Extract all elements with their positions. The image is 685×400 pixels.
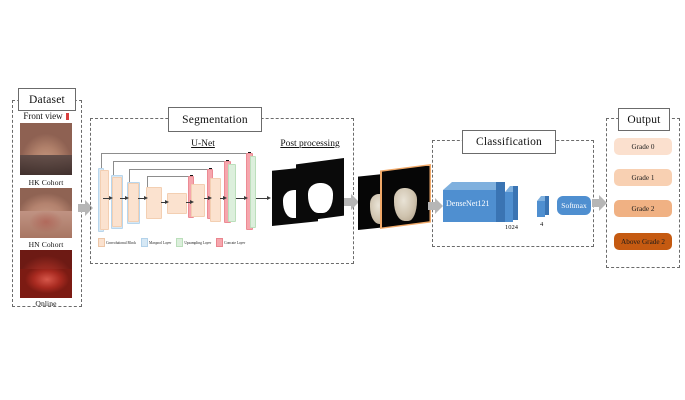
softmax-block: Softmax	[557, 196, 591, 215]
legend-item-upsampling: Upsampling Layer	[176, 238, 211, 247]
legend-label-concate: Concate Layer	[224, 241, 245, 245]
unet-conv-bottleneck	[167, 193, 187, 214]
binary-mask-front	[296, 158, 344, 222]
class-count-label: 4	[540, 221, 543, 228]
feature-vector-front-face	[505, 192, 513, 222]
legend-swatch-upsampling	[176, 238, 183, 247]
legend-label-maxpool: Maxpool Layer	[149, 241, 171, 245]
output-grade-1: Grade 1	[614, 169, 672, 186]
arrow-segmentation-out	[344, 194, 358, 210]
segmented-image-front	[380, 164, 431, 229]
unet-flow-arrow-3	[138, 198, 145, 199]
front-view-label: Front view	[12, 111, 80, 121]
front-view-text: Front view	[23, 111, 62, 121]
unet-conv-2	[128, 183, 139, 222]
legend-swatch-conv	[98, 238, 105, 247]
front-view-marker-icon	[66, 113, 69, 120]
unet-flow-arrow-9	[256, 198, 268, 199]
segmented-silhouette-front	[394, 188, 417, 221]
classification-panel-title: Classification	[462, 130, 556, 154]
hn-cohort-photo	[20, 188, 72, 238]
feature-vector-side-face	[513, 186, 518, 220]
legend-label-upsampling: Upsampling Layer	[184, 241, 211, 245]
unet-conv-3	[146, 187, 162, 219]
online-caption: Online	[12, 299, 80, 308]
hk-cohort-caption: HK Cohort	[12, 178, 80, 187]
arrow-to-densenet	[428, 198, 442, 214]
legend-item-maxpool: Maxpool Layer	[141, 238, 171, 247]
unet-flow-arrow-5	[186, 202, 191, 203]
unet-conv-0	[100, 170, 109, 230]
mask-silhouette-front	[308, 183, 333, 213]
figure-canvas: Dataset Front view HK Cohort HN Cohort O…	[0, 0, 685, 400]
unet-upsample-2	[250, 156, 256, 228]
class-vector-side-face	[545, 196, 549, 215]
unet-label: U-Net	[178, 139, 228, 149]
unet-legend: Convolutional Block Maxpool Layer Upsamp…	[98, 238, 248, 247]
densenet121-top-face	[443, 182, 505, 190]
densenet121-side-face	[496, 182, 505, 222]
output-grade-2: Grade 2	[614, 200, 672, 217]
densenet121-label: DenseNet121	[446, 199, 490, 208]
unet-flow-arrow-7	[220, 198, 224, 199]
output-grade-0: Grade 0	[614, 138, 672, 155]
dataset-panel-title: Dataset	[18, 88, 76, 111]
unet-conv-1	[112, 177, 122, 227]
unet-conv-5	[210, 178, 221, 222]
online-photo	[20, 250, 72, 298]
legend-item-conv: Convolutional Block	[98, 238, 136, 247]
unet-flow-arrow-2	[120, 198, 126, 199]
class-vector-front-face	[537, 201, 545, 217]
legend-swatch-concate	[216, 238, 223, 247]
hn-cohort-caption: HN Cohort	[12, 240, 80, 249]
legend-item-concate: Concate Layer	[216, 238, 245, 247]
output-panel-title: Output	[618, 108, 670, 131]
segmented-image-stack	[358, 162, 430, 244]
feature-dim-label: 1024	[505, 224, 518, 231]
legend-label-conv: Convolutional Block	[106, 241, 136, 245]
arrow-to-output	[592, 195, 606, 211]
hk-cohort-photo	[20, 123, 72, 175]
post-processing-label: Post processing	[272, 139, 348, 149]
unet-upsample-1	[228, 164, 236, 222]
legend-swatch-maxpool	[141, 238, 148, 247]
unet-flow-arrow-6	[204, 198, 209, 199]
unet-flow-arrow-8	[236, 198, 245, 199]
unet-flow-arrow-4	[161, 202, 166, 203]
binary-mask-stack	[272, 158, 344, 240]
unet-flow-arrow-1	[103, 198, 110, 199]
segmentation-panel-title: Segmentation	[168, 107, 262, 132]
output-above-grade-2: Above Grade 2	[614, 233, 672, 250]
